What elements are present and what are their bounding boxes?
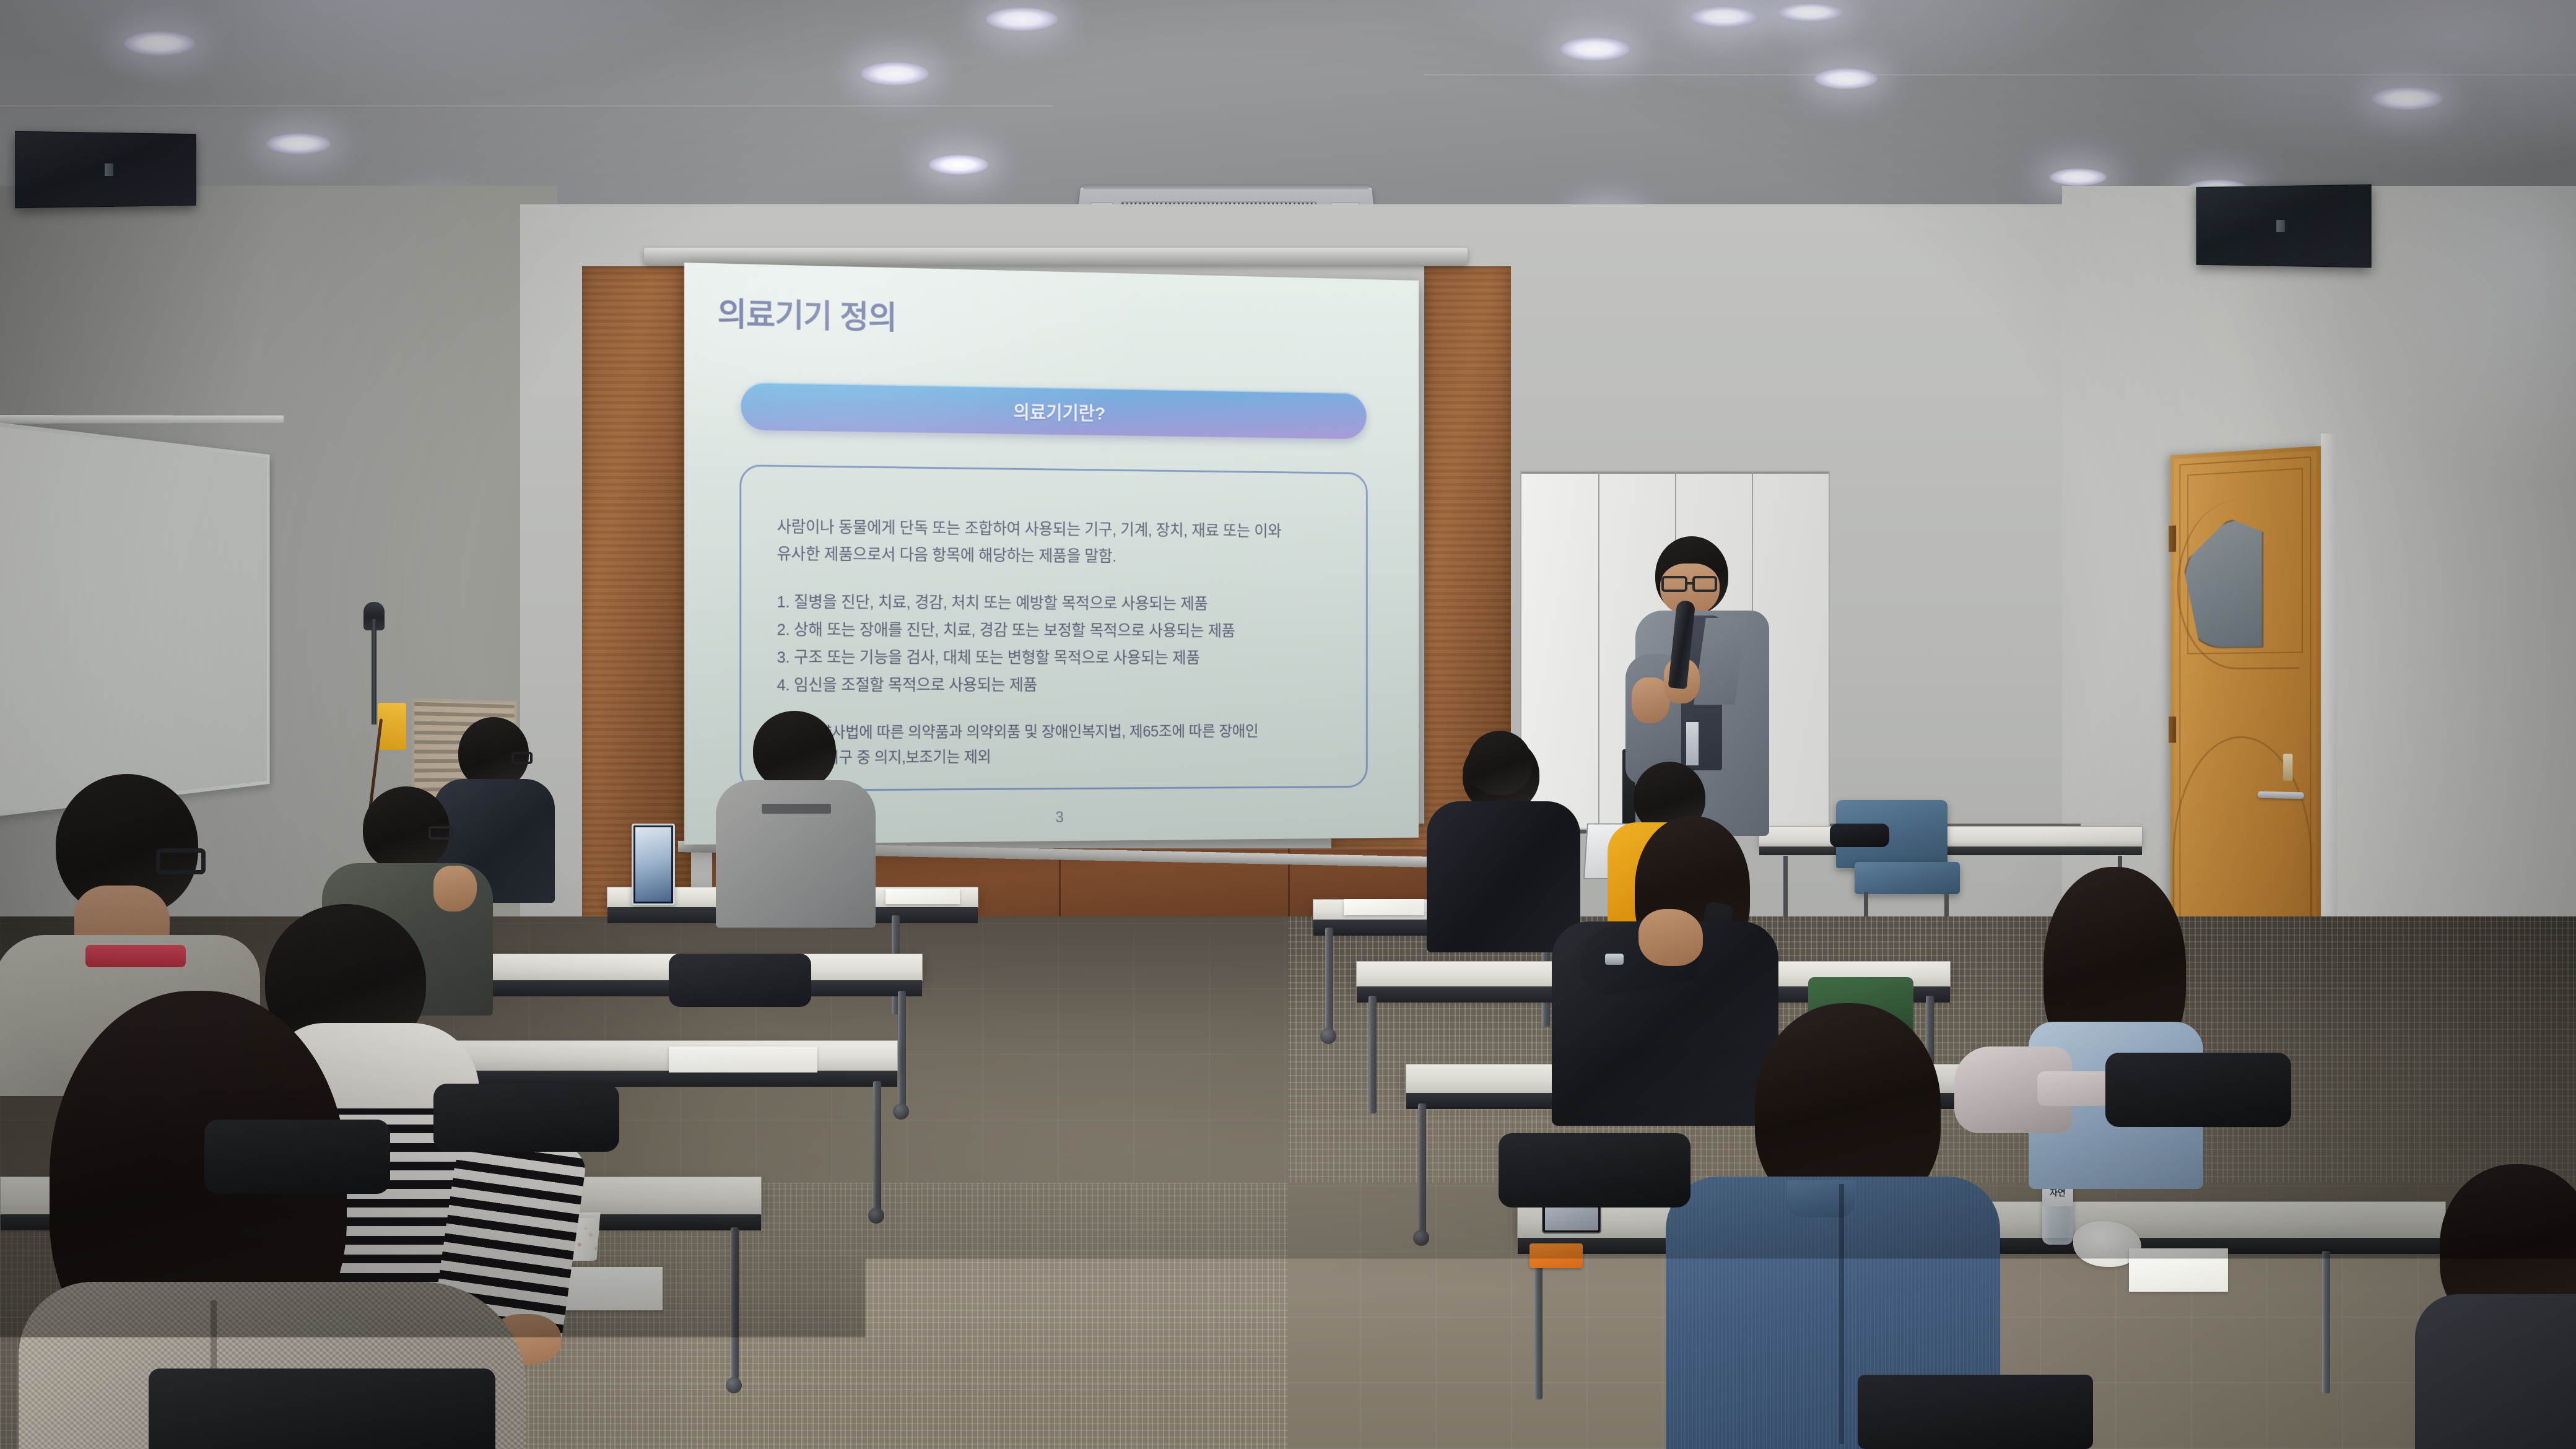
ac-trim [1083,185,1370,189]
ceiling-light [1814,68,1878,89]
desk-leg [873,1081,881,1211]
slide-list-item: 3. 구조 또는 기능을 검사, 대체 또는 변형할 목적으로 사용되는 제품 [777,643,1333,671]
handout-paper [669,1046,817,1073]
desk-caster [1320,1028,1336,1044]
ceiling-light [266,133,331,154]
desk-leg [1418,1103,1426,1234]
chair[interactable] [669,954,811,1007]
tablet-device[interactable] [632,824,675,905]
microphone-stand[interactable] [372,619,376,724]
forearm [2037,1071,2110,1106]
slide-list-item: 2. 상해 또는 장애를 진단, 치료, 경감 또는 보정할 목적으로 사용되는… [777,616,1333,645]
slide-numbered-list: 1. 질병을 진단, 치료, 경감, 처치 또는 예방할 목적으로 사용되는 제… [777,588,1333,698]
ceiling-light [1560,37,1630,61]
handout-paper [2129,1248,2228,1292]
slide-paragraph-line: 사람이나 동물에게 단독 또는 조합하여 사용되는 기구, 기계, 장치, 재료… [777,513,1333,545]
desk-leg [898,991,906,1108]
slide-list-item: 4. 임신을 조절할 목적으로 사용되는 제품 [777,671,1333,698]
desk-leg [1368,996,1377,1113]
whiteboard-rail [0,415,284,424]
ceiling-light [1777,3,1843,22]
slide-paragraph-line: 유사한 제품으로서 다음 항목에 해당하는 제품을 말함. [777,541,1333,571]
door-handle[interactable] [2258,791,2304,799]
whiteboard [0,421,269,817]
slide-header-pill: 의료기기란? [741,382,1367,440]
desk-leg [1325,928,1333,1033]
ceiling-light [929,155,988,175]
desk-caster [726,1377,742,1393]
desk-caster [1413,1230,1429,1246]
projection-screen-housing [644,248,1468,265]
black-bag [1858,1375,2093,1449]
shirt-logo [762,804,831,814]
door-lock[interactable] [2283,754,2292,781]
ceiling-light [861,62,929,85]
chair[interactable] [149,1368,495,1449]
presenter-lanyard [1686,722,1699,765]
slide-header-pill-label: 의료기기란? [1013,397,1105,425]
audience-man-grey-tshirt [712,711,879,921]
orange-folder [1529,1243,1583,1268]
table-edge [1759,846,2142,855]
desk-leg [1534,1251,1543,1399]
ceiling-seam [0,105,1053,107]
chair[interactable] [2105,1053,2291,1127]
jacket-collar [1787,1180,1855,1217]
desk-caster [868,1207,884,1224]
wall-yellow-tag [378,703,406,750]
desk-leg [731,1227,739,1382]
audience-person-behind-presenter [1443,731,1554,867]
head [1468,731,1532,795]
cabinet-seam [1598,472,1599,829]
jacket-seam [1839,1184,1844,1444]
ceiling-light [1690,6,1757,27]
black-bag [1830,824,1889,847]
slide-title: 의료기기 정의 [718,288,1388,348]
door-hinge [2169,716,2176,742]
glasses-icon [1692,576,1717,592]
glasses-icon [156,848,206,874]
chair[interactable] [2204,1331,2465,1449]
glasses-bridge [1686,582,1694,585]
door-hinge [2169,526,2176,552]
ceiling-light [2050,168,2107,186]
left-wall-speaker [15,131,196,209]
back-table [1759,826,2143,847]
head [753,711,836,790]
ceiling-light [986,7,1058,31]
chair[interactable] [204,1120,390,1194]
handout-paper [1344,899,1424,915]
hand [1638,909,1703,966]
ceiling-light [2372,87,2443,110]
desk-caster [893,1103,909,1120]
torso [716,780,876,928]
ceiling-seam [1424,74,2576,76]
ceiling-light [124,31,196,56]
chair[interactable] [433,1084,619,1152]
lecture-room-photo: 의료기기 정의 의료기기란? 사람이나 동물에게 단독 또는 조합하여 사용되는… [0,0,2576,1449]
glasses-icon [429,826,453,840]
blue-chair-seat[interactable] [1855,862,1960,894]
tablet-screen [635,827,671,902]
glasses-icon [1661,576,1687,592]
wristwatch [1605,954,1624,965]
slide-list-item: 1. 질병을 진단, 치료, 경감, 처치 또는 예방할 목적으로 사용되는 제… [777,588,1333,618]
right-wall-speaker [2196,185,2372,268]
door-jamb [2321,433,2337,970]
chair[interactable] [1499,1133,1690,1207]
handout-paper [885,889,960,904]
slide-page-number: 3 [1055,807,1064,826]
glasses-icon [511,752,533,764]
